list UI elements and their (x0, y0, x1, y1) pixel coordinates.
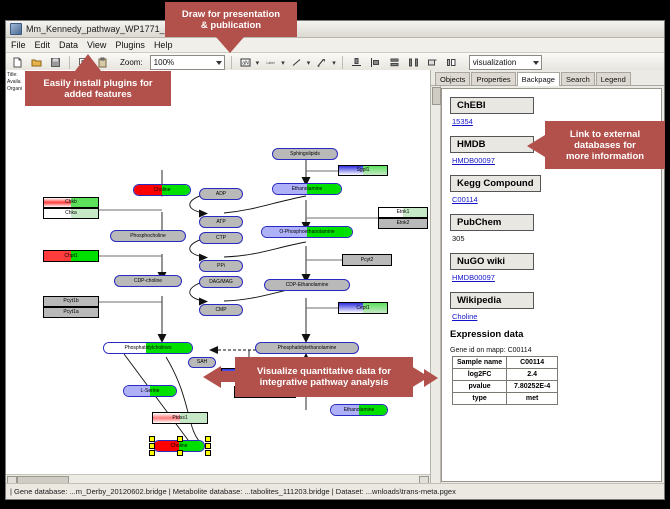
toolbar-separator (69, 56, 70, 69)
cell-key: pvalue (453, 381, 507, 393)
save-icon[interactable] (48, 55, 63, 70)
node-label: PPi (217, 264, 225, 269)
label-dropdown-icon[interactable]: ▾ (281, 59, 285, 67)
metabolite-node-ethanolamine[interactable]: Ethanolamine (272, 183, 342, 195)
tab-objects[interactable]: Objects (435, 72, 470, 85)
metabolite-node-choline[interactable]: Choline (133, 184, 191, 196)
metabolite-node[interactable]: CTP (199, 232, 243, 244)
svg-text:aN: aN (242, 61, 249, 67)
node-label: Chka (65, 211, 77, 216)
callout-visualize-stem-left (218, 371, 238, 382)
cell-value: 7.80252E-4 (507, 381, 558, 393)
resize-handle[interactable] (205, 436, 211, 442)
metabolite-node[interactable]: DAG/MAG (199, 276, 243, 288)
metabolite-node-phosphatidylcholines[interactable]: Phosphatidylcholines (103, 342, 193, 354)
section-header-wikipedia: Wikipedia (450, 292, 534, 309)
metabolite-node[interactable]: Sphingolipids (272, 148, 338, 160)
gene-node-sgpl1[interactable]: Sgpl1 (338, 165, 388, 176)
cell-value: met (507, 393, 558, 405)
metabolite-node-o-phosphoethanolamine[interactable]: O-Phosphoethanolamine (261, 226, 353, 238)
menu-item-view[interactable]: View (87, 40, 106, 50)
callout-draw: Draw for presentation & publication (165, 2, 297, 37)
menu-item-plugins[interactable]: Plugins (115, 40, 145, 50)
selected-node-group[interactable]: Choline (149, 436, 209, 454)
menu-item-edit[interactable]: Edit (35, 40, 51, 50)
callout-draw-arrow-icon (216, 37, 244, 53)
section-header-kegg: Kegg Compound (450, 175, 541, 192)
section-header-nugo: NuGO wiki (450, 253, 534, 270)
resize-handle[interactable] (205, 450, 211, 456)
gene-node-chka[interactable]: Chka (43, 208, 99, 219)
section-header-pubchem: PubChem (450, 214, 534, 231)
callout-links-line3: more information (566, 151, 644, 162)
pathvisio-icon (10, 23, 22, 35)
label-icon[interactable]: Label (263, 55, 278, 70)
node-label: Ptdss1 (172, 416, 187, 421)
node-label: Choline (154, 188, 171, 193)
toolbar-separator-2 (231, 56, 232, 69)
resize-handle[interactable] (149, 436, 155, 442)
gene-node-pcyt2[interactable]: Pcyt2 (342, 254, 392, 266)
chevron-down-icon (216, 61, 222, 65)
wikipedia-link[interactable]: Choline (452, 312, 661, 321)
node-label: Pcyt1b (63, 299, 78, 304)
kegg-link[interactable]: C00114 (452, 195, 661, 204)
node-label: Etnk2 (397, 221, 410, 226)
status-bar-text: | Gene database: ...m_Derby_20120602.bri… (6, 484, 664, 499)
metabolite-node[interactable]: CMP (199, 304, 243, 316)
node-label: Ethanolamine (292, 187, 323, 192)
callout-visualize-line1: Visualize quantitative data for (257, 366, 391, 377)
gene-node-cept1[interactable]: Cept1 (338, 302, 388, 314)
line-icon[interactable] (289, 55, 304, 70)
callout-links-line2: databases for (566, 140, 644, 151)
node-label: CDP-choline (134, 279, 162, 284)
ungroup-icon[interactable] (444, 55, 459, 70)
table-row: type met (453, 393, 558, 405)
gene-node-pcyt1b[interactable]: Pcyt1b (43, 296, 99, 307)
cell-key: Sample name (453, 357, 507, 369)
title-bar: Mm_Kennedy_pathway_WP1771_45176.gpml (6, 21, 664, 38)
status-bar: | Gene database: ...m_Derby_20120602.bri… (6, 483, 664, 499)
metabolite-node[interactable]: Phosphocholine (110, 230, 186, 242)
datanode-icon[interactable]: aN (238, 55, 253, 70)
node-label: DAG/MAG (209, 280, 233, 285)
gene-node-ptdss1[interactable]: Ptdss1 (152, 412, 208, 424)
chevron-down-icon-2 (533, 61, 539, 65)
callout-draw-line1: Draw for presentation (182, 9, 280, 20)
table-row: log2FC 2.4 (453, 369, 558, 381)
node-label: O-Phosphoethanolamine (279, 230, 334, 235)
node-label: CDP-Ethanolamine (286, 283, 329, 288)
open-folder-icon[interactable] (29, 55, 44, 70)
resize-handle[interactable] (149, 450, 155, 456)
gene-id-on-mapp: Gene id on mapp: C00114 (450, 347, 661, 354)
node-label: Choline (171, 444, 188, 449)
node-label: CTP (216, 236, 226, 241)
expression-data-heading: Expression data (450, 329, 661, 340)
node-label: L-Serine (141, 389, 160, 394)
callout-draw-line2: & publication (182, 20, 280, 31)
svg-text:Label: Label (267, 61, 275, 65)
metabolite-node[interactable]: ATP (199, 216, 243, 228)
align-bottom-icon[interactable] (349, 55, 364, 70)
cell-value: 2.4 (507, 369, 558, 381)
node-label: Cept1 (356, 306, 369, 311)
node-label: Phosphatidylethanolamine (278, 346, 337, 351)
callout-links: Link to external databases for more info… (545, 121, 665, 169)
metabolite-node[interactable]: ADP (199, 188, 243, 200)
callout-visualize-line2: integrative pathway analysis (257, 377, 391, 388)
node-label: SAH (197, 360, 207, 365)
tab-backpage[interactable]: Backpage (517, 72, 560, 86)
visualization-combo[interactable]: visualization (469, 55, 542, 70)
metabolite-node-ethanolamine-bottom[interactable]: Ethanolamine (330, 404, 388, 416)
callout-visualize: Visualize quantitative data for integrat… (235, 357, 413, 397)
node-label: Sgpl1 (357, 168, 370, 173)
line-dropdown-icon[interactable]: ▾ (307, 59, 311, 67)
cell-key: type (453, 393, 507, 405)
callout-plugins-arrow-stem (81, 66, 95, 74)
table-row: pvalue 7.80252E-4 (453, 381, 558, 393)
table-row: Sample name C00114 (453, 357, 558, 369)
node-label: Pcyt2 (361, 258, 374, 263)
metabolite-node[interactable]: PPi (199, 260, 243, 272)
scrollbar-thumb[interactable] (432, 87, 441, 105)
callout-visualize-stem-right (404, 371, 416, 382)
gene-node-etnk2[interactable]: Etnk2 (378, 218, 428, 229)
node-label: Ethanolamine (344, 408, 375, 413)
node-label: Chkb (65, 200, 77, 205)
group-icon[interactable] (425, 55, 440, 70)
visualization-value: visualization (473, 58, 517, 67)
callout-plugins: Easily install plugins for added feature… (25, 71, 171, 106)
tab-search[interactable]: Search (561, 72, 595, 85)
zoom-value: 100% (154, 58, 174, 67)
node-label: Pcyt1a (63, 310, 78, 315)
resize-handle[interactable] (177, 450, 183, 456)
resize-handle[interactable] (177, 436, 183, 442)
tab-properties[interactable]: Properties (471, 72, 515, 85)
zoom-label: Zoom: (120, 58, 143, 67)
gene-node-chpt1[interactable]: Chpt1 (43, 250, 99, 262)
align-left-icon[interactable] (368, 55, 383, 70)
gene-node-etnk1[interactable]: Etnk1 (378, 207, 428, 218)
screenshot-root: Mm_Kennedy_pathway_WP1771_45176.gpml Fil… (0, 0, 670, 509)
node-label: CMP (215, 308, 226, 313)
section-header-hmdb: HMDB (450, 136, 534, 153)
callout-links-line1: Link to external (566, 129, 644, 140)
callout-plugins-line2: added features (43, 89, 152, 100)
gene-node-pcyt1a[interactable]: Pcyt1a (43, 307, 99, 318)
backpage-vertical-scrollbar[interactable] (431, 86, 441, 484)
expression-table: Sample name C00114 log2FC 2.4 pvalue 7.8… (452, 356, 558, 405)
resize-handle[interactable] (205, 443, 211, 449)
toolbar-separator-3 (342, 56, 343, 69)
callout-links-arrow-stem (538, 140, 548, 151)
gene-node-chkb[interactable]: Chkb (43, 197, 99, 208)
stack-center-icon[interactable] (387, 55, 402, 70)
metabolite-node[interactable]: CDP-choline (114, 275, 182, 287)
metabolite-node-phosphatidylethanolamine[interactable]: Phosphatidylethanolamine (255, 342, 359, 354)
section-header-chebi: ChEBI (450, 97, 534, 114)
datanode-dropdown-icon[interactable]: ▾ (256, 59, 260, 67)
cell-value: C00114 (507, 357, 558, 369)
nugo-link[interactable]: HMDB00097 (452, 273, 661, 282)
side-panel-tabs: Objects Properties Backpage Search Legen… (431, 70, 664, 86)
node-label: Phosphocholine (130, 234, 166, 239)
menu-item-help[interactable]: Help (154, 40, 173, 50)
new-file-icon[interactable] (10, 55, 25, 70)
callout-plugins-line1: Easily install plugins for (43, 78, 152, 89)
menu-item-data[interactable]: Data (59, 40, 78, 50)
tab-legend[interactable]: Legend (596, 72, 631, 85)
metabolite-node[interactable]: CDP-Ethanolamine (264, 279, 350, 291)
node-label: Etnk1 (397, 210, 410, 215)
arrow-shape-icon[interactable] (314, 55, 329, 70)
node-label: Chpt1 (64, 254, 77, 259)
cell-key: log2FC (453, 369, 507, 381)
node-label: Sphingolipids (290, 152, 320, 157)
pathway-canvas[interactable]: Title: Availa Organi (6, 70, 431, 484)
pubchem-value: 305 (452, 234, 661, 243)
node-label: Phosphatidylcholines (125, 346, 172, 351)
arrow-dropdown-icon[interactable]: ▾ (332, 59, 336, 67)
resize-handle[interactable] (149, 443, 155, 449)
node-label: ADP (216, 192, 226, 197)
distribute-icon[interactable] (406, 55, 421, 70)
callout-expression-arrow-icon (424, 369, 438, 387)
metabolite-node-lserine-left[interactable]: L-Serine (123, 385, 177, 397)
menu-item-file[interactable]: File (11, 40, 26, 50)
zoom-combo[interactable]: 100% (150, 55, 225, 70)
menu-bar: File Edit Data View Plugins Help (6, 38, 664, 53)
node-label: ATP (216, 220, 225, 225)
